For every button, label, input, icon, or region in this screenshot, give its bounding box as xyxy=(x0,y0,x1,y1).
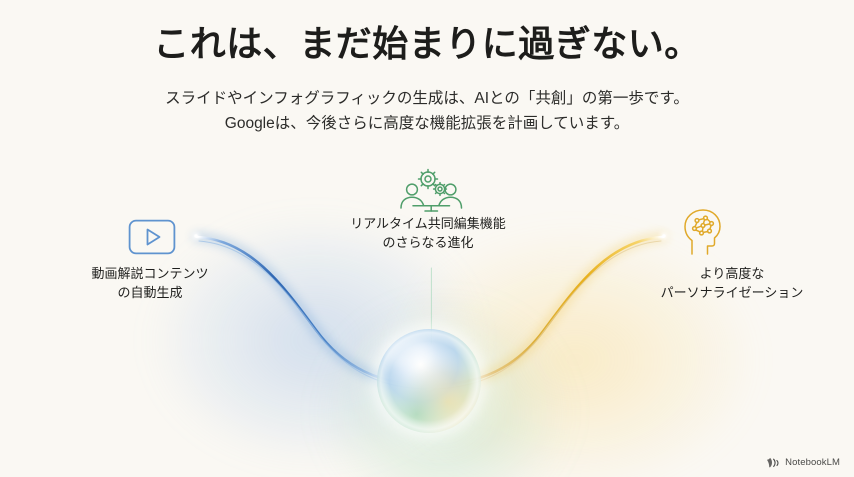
node-advanced-personalization: より高度な パーソナライゼーション xyxy=(604,265,854,303)
node-label-line-1: リアルタイム共同編集機能 xyxy=(300,215,556,234)
node-video-auto-generation: 動画解説コンテンツ の自動生成 xyxy=(22,265,278,303)
convergence-orb xyxy=(371,323,487,439)
node-label-line-2: パーソナライゼーション xyxy=(604,284,854,303)
collaboration-gears-icon[interactable] xyxy=(390,167,468,222)
brain-head-icon[interactable] xyxy=(678,206,730,263)
node-label-line-2: のさらなる進化 xyxy=(300,234,556,253)
node-label-line-1: 動画解説コンテンツ xyxy=(22,265,278,284)
node-realtime-collaboration: リアルタイム共同編集機能 のさらなる進化 xyxy=(300,215,556,253)
slide-canvas: これは、まだ始まりに過ぎない。 スライドやインフォグラフィックの生成は、AIとの… xyxy=(0,0,854,477)
node-label-line-2: の自動生成 xyxy=(22,284,278,303)
node-label-line-1: より高度な xyxy=(604,265,854,284)
notebooklm-logo: NotebookLM xyxy=(767,457,840,468)
notebooklm-spark-icon xyxy=(767,457,780,468)
notebooklm-logo-text: NotebookLM xyxy=(785,457,840,468)
play-video-icon[interactable] xyxy=(128,219,176,260)
